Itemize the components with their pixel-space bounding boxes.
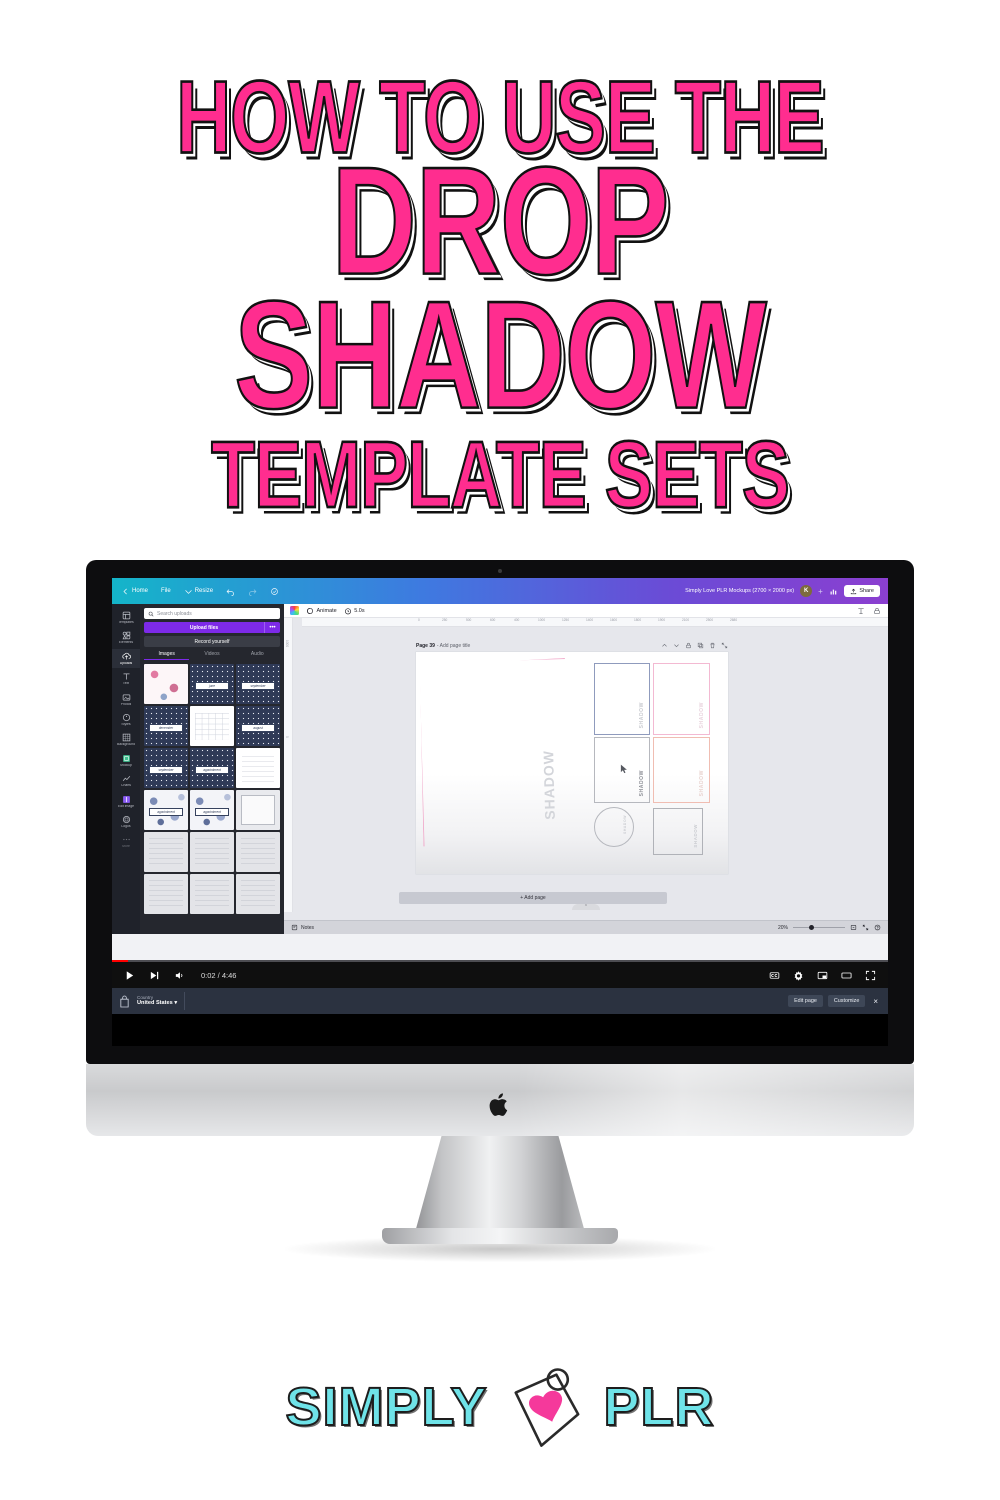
shape-label: SHADOW	[694, 824, 698, 848]
title-line-4: TEMPLATE SETS	[0, 432, 1000, 519]
more-icon	[122, 835, 131, 844]
divider	[184, 992, 185, 1010]
canva-topbar: Home File Resize	[112, 578, 888, 604]
captions-cc-icon[interactable]	[769, 970, 780, 981]
home-button[interactable]: Home	[121, 587, 148, 596]
ruler-tick: 1250	[562, 618, 569, 622]
country-value-text: United States	[137, 1000, 173, 1006]
add-page-button[interactable]: + Add page	[399, 892, 667, 904]
shape-label: SHADOW	[640, 702, 645, 728]
next-icon[interactable]	[149, 970, 160, 981]
photos-icon	[122, 693, 131, 702]
sidebar-label-background: Background	[117, 743, 135, 746]
fit-page-icon[interactable]	[850, 924, 857, 931]
list-item[interactable]: december	[144, 706, 188, 746]
ruler-v-tick: 1000	[285, 640, 289, 647]
position-icon[interactable]	[857, 607, 865, 615]
share-upload-icon	[850, 588, 857, 595]
imac-stand-foot	[382, 1228, 618, 1244]
search-placeholder: Search uploads	[157, 611, 192, 617]
timer-icon	[344, 607, 352, 615]
sidebar-label-styles: Styles	[121, 723, 130, 726]
list-item[interactable]	[144, 832, 188, 872]
share-button[interactable]: Share	[844, 585, 880, 597]
thumb-caption: appointment	[195, 808, 228, 817]
lock-icon[interactable]	[873, 607, 881, 615]
background-icon	[122, 733, 131, 742]
video-player[interactable]: Home File Resize	[112, 578, 888, 1046]
imac-mockup: Home File Resize	[0, 560, 1000, 1260]
delete-icon[interactable]	[709, 642, 716, 649]
home-label: Home	[132, 588, 148, 594]
share-label: Share	[859, 588, 874, 594]
list-item[interactable]	[236, 832, 280, 872]
volume-icon[interactable]	[174, 970, 185, 981]
mockup-icon	[122, 754, 131, 763]
document-title[interactable]: Simply Love PLR Mockups (2700 × 2000 px)	[685, 588, 794, 594]
ruler-tick: 600	[490, 618, 495, 622]
horizontal-ruler: 0 250 500 600 400 1000 1250 1400 1600	[302, 618, 888, 627]
list-item[interactable]: august	[236, 706, 280, 746]
redo-icon[interactable]	[248, 587, 257, 596]
country-selector[interactable]: Country United States ▾	[137, 995, 177, 1007]
sidebar-item-logos[interactable]: Logos	[112, 812, 140, 831]
help-icon[interactable]	[874, 924, 881, 931]
sidebar-item-styles[interactable]: Styles	[112, 710, 140, 729]
list-item[interactable]: appointment	[144, 790, 188, 830]
page-header: Page 39 - Add page title	[416, 642, 728, 649]
chevron-down-icon[interactable]	[673, 642, 680, 649]
youtube-bottom-bar: Country United States ▾ Edit page Custom…	[112, 988, 888, 1014]
file-menu[interactable]: File	[161, 588, 171, 594]
thumb-caption: june	[195, 682, 228, 691]
cloud-saved-icon[interactable]	[270, 587, 279, 596]
theater-mode-icon[interactable]	[841, 970, 852, 981]
list-item[interactable]: appointment	[190, 790, 234, 830]
expand-icon[interactable]	[721, 642, 728, 649]
sidebar-label-text: Text	[123, 682, 129, 685]
country-value: United States ▾	[137, 1000, 177, 1006]
sidebar-item-photos[interactable]: Photos	[112, 690, 140, 709]
list-item[interactable]: september	[144, 748, 188, 788]
sidebar-item-background[interactable]: Background	[112, 730, 140, 749]
play-icon[interactable]	[124, 970, 135, 981]
animate-label: Animate	[317, 608, 337, 614]
list-item[interactable]	[236, 748, 280, 788]
chevron-left-icon	[121, 587, 130, 596]
sidebar-item-edit-image[interactable]: Edit image	[112, 792, 140, 811]
canva-statusbar: Notes 20%	[284, 920, 888, 934]
poster-title: HOW TO USE THE DROP SHADOW TEMPLATE SETS	[0, 96, 1000, 519]
apple-logo	[489, 1092, 511, 1118]
page-title-placeholder[interactable]: - Add page title	[437, 643, 470, 649]
animate-icon	[306, 607, 314, 615]
page-number: Page 39	[416, 643, 435, 649]
ruler-tick: 250	[442, 618, 447, 622]
sidebar-label-templates: Templates	[118, 621, 133, 624]
canva-subtoolbar: Animate 5.0s	[284, 604, 888, 618]
uploads-thumbnail-grid: june september december august september…	[144, 664, 280, 914]
edit-page-button[interactable]: Edit page	[788, 995, 823, 1007]
ruler-tick: 1900	[658, 618, 665, 622]
webcam-icon	[498, 569, 502, 573]
shape-label: SHADOW	[700, 702, 705, 728]
ruler-tick: 2100	[682, 618, 689, 622]
uploads-tabs: Images Videos Audio	[144, 651, 280, 660]
shape-label: SHADOW	[700, 770, 705, 796]
canva-canvas-area: Animate 5.0s	[284, 604, 888, 934]
thumb-caption: appointment	[149, 808, 182, 817]
shape-rect-mid-right[interactable]: SHADOW	[653, 737, 710, 803]
lock-icon[interactable]	[685, 642, 692, 649]
resize-button[interactable]: Resize	[184, 587, 213, 596]
sidebar-label-charts: Charts	[121, 784, 131, 787]
video-time: 0:02 / 4:46	[201, 971, 236, 980]
list-item[interactable]	[236, 874, 280, 914]
uploads-icon	[122, 652, 131, 661]
sidebar-label-more: More	[122, 845, 130, 848]
color-palette-icon[interactable]	[290, 606, 299, 615]
insights-icon[interactable]	[829, 587, 838, 596]
duration-label: 5.0s	[354, 608, 364, 614]
ruler-tick: 400	[514, 618, 519, 622]
invite-button[interactable]: +	[818, 587, 823, 596]
miniplayer-icon[interactable]	[817, 970, 828, 981]
shape-label: SHADOW	[640, 770, 645, 796]
duration-button[interactable]: 5.0s	[344, 607, 365, 615]
zoom-slider[interactable]	[793, 927, 845, 928]
file-label: File	[161, 588, 171, 594]
shape-circle-bottom[interactable]: SHADOW	[594, 807, 634, 847]
mouse-cursor-icon	[620, 764, 628, 774]
video-frame: Home File Resize	[112, 578, 888, 960]
sidebar-item-templates[interactable]: Templates	[112, 608, 140, 627]
sidebar-item-more[interactable]: More	[112, 832, 140, 851]
settings-gear-icon[interactable]	[793, 970, 804, 981]
thumb-caption: december	[149, 724, 182, 733]
imac-stand-neck	[414, 1136, 586, 1236]
resize-label: Resize	[195, 588, 213, 594]
upload-more-button[interactable]: •••	[264, 622, 280, 633]
shape-label: SHADOW	[540, 750, 558, 820]
elements-icon	[122, 631, 131, 640]
shape-rect-top-left[interactable]: SHADOW	[594, 663, 650, 735]
ruler-tick: 0	[418, 618, 420, 622]
sidebar-label-elements: Elements	[119, 641, 133, 644]
ruler-tick: 1000	[538, 618, 545, 622]
templates-icon	[122, 611, 131, 620]
sidebar-label-uploads: Uploads	[120, 662, 132, 665]
sidebar-item-elements[interactable]: Elements	[112, 628, 140, 647]
sidebar-label-mockup: Mockup	[120, 764, 132, 767]
thumb-caption: august	[241, 724, 274, 733]
sidebar-label-logos: Logos	[121, 825, 130, 828]
brand-word-left: SIMPLY	[285, 1376, 487, 1438]
design-page-canvas[interactable]: SHADOW SHADOW SHADOW SHADOW	[416, 652, 728, 874]
shape-label: SHADOW	[624, 815, 627, 834]
list-item[interactable]: appointment	[190, 748, 234, 788]
resize-icon	[184, 587, 193, 596]
title-line-3: SHADOW	[0, 286, 1000, 427]
list-item[interactable]	[190, 706, 234, 746]
brand-logo: SIMPLY PLR	[0, 1352, 1000, 1462]
undo-icon[interactable]	[226, 587, 235, 596]
ruler-tick: 1600	[610, 618, 617, 622]
ruler-tick: 1400	[586, 618, 593, 622]
uploads-panel: Search uploads Upload files ••• Record y…	[140, 604, 284, 934]
record-yourself-button[interactable]: Record yourself	[144, 636, 280, 647]
close-icon[interactable]: ×	[870, 997, 881, 1006]
animate-button[interactable]: Animate	[306, 607, 337, 615]
avatar[interactable]: K	[800, 585, 812, 597]
imac-screen: Home File Resize	[112, 578, 888, 1046]
sidebar-item-uploads[interactable]: Uploads	[112, 649, 140, 668]
collapse-panel-handle[interactable]: ⌃	[572, 904, 600, 910]
zoom-level: 20%	[778, 925, 788, 931]
logos-icon	[122, 815, 131, 824]
shape-rect-top-right[interactable]: SHADOW	[653, 663, 710, 735]
brand-word-right: PLR	[604, 1376, 715, 1438]
thumb-caption: september	[149, 766, 182, 775]
sidebar-item-text[interactable]: Text	[112, 669, 140, 688]
list-item[interactable]	[236, 790, 280, 830]
thumb-caption: appointment	[195, 766, 228, 775]
text-icon	[122, 672, 131, 681]
store-icon[interactable]	[119, 995, 130, 1008]
imac-chin	[86, 1064, 914, 1136]
ruler-v-tick: 0	[285, 736, 289, 738]
list-item[interactable]	[190, 832, 234, 872]
shape-rect-bottom-right[interactable]: SHADOW	[653, 808, 703, 855]
sidebar-item-charts[interactable]: Charts	[112, 771, 140, 790]
customize-button[interactable]: Customize	[828, 995, 865, 1007]
upload-files-button[interactable]: Upload files	[144, 622, 264, 633]
sidebar-item-mockup[interactable]: Mockup	[112, 751, 140, 770]
fullscreen-icon[interactable]	[865, 970, 876, 981]
search-icon	[148, 611, 154, 617]
edit-image-icon	[122, 795, 131, 804]
charts-icon	[122, 774, 131, 783]
sidebar-label-photos: Photos	[121, 703, 132, 706]
ruler-tick: 2680	[730, 618, 737, 622]
notes-button[interactable]: Notes	[291, 924, 314, 931]
ruler-tick: 500	[466, 618, 471, 622]
tab-videos[interactable]: Videos	[189, 651, 234, 660]
tab-audio[interactable]: Audio	[235, 651, 280, 660]
canva-left-rail: Templates Elements Uploads	[112, 604, 140, 934]
list-item[interactable]: june	[190, 664, 234, 704]
search-input[interactable]: Search uploads	[144, 608, 280, 619]
duplicate-icon[interactable]	[697, 642, 704, 649]
fullscreen-icon[interactable]	[862, 924, 869, 931]
list-item[interactable]	[144, 664, 188, 704]
list-item[interactable]	[190, 874, 234, 914]
styles-icon	[122, 713, 131, 722]
notes-icon	[291, 924, 298, 931]
ruler-tick: 1800	[634, 618, 641, 622]
imac-bezel: Home File Resize	[86, 560, 914, 1064]
zoom-slider-knob[interactable]	[809, 925, 814, 930]
tab-images[interactable]: Images	[144, 651, 189, 660]
canva-app: Home File Resize	[112, 578, 888, 960]
sidebar-label-edit-image: Edit image	[118, 805, 134, 808]
list-item[interactable]	[144, 874, 188, 914]
notes-label: Notes	[301, 925, 314, 931]
list-item[interactable]: september	[236, 664, 280, 704]
video-controls: 0:02 / 4:46	[112, 962, 888, 988]
price-tag-icon	[492, 1357, 600, 1457]
chevron-down-icon: ▾	[174, 1000, 177, 1006]
vertical-ruler: 1000 0	[284, 618, 293, 912]
thumb-caption: september	[241, 682, 274, 691]
chevron-up-icon[interactable]	[661, 642, 668, 649]
ruler-tick: 2500	[706, 618, 713, 622]
